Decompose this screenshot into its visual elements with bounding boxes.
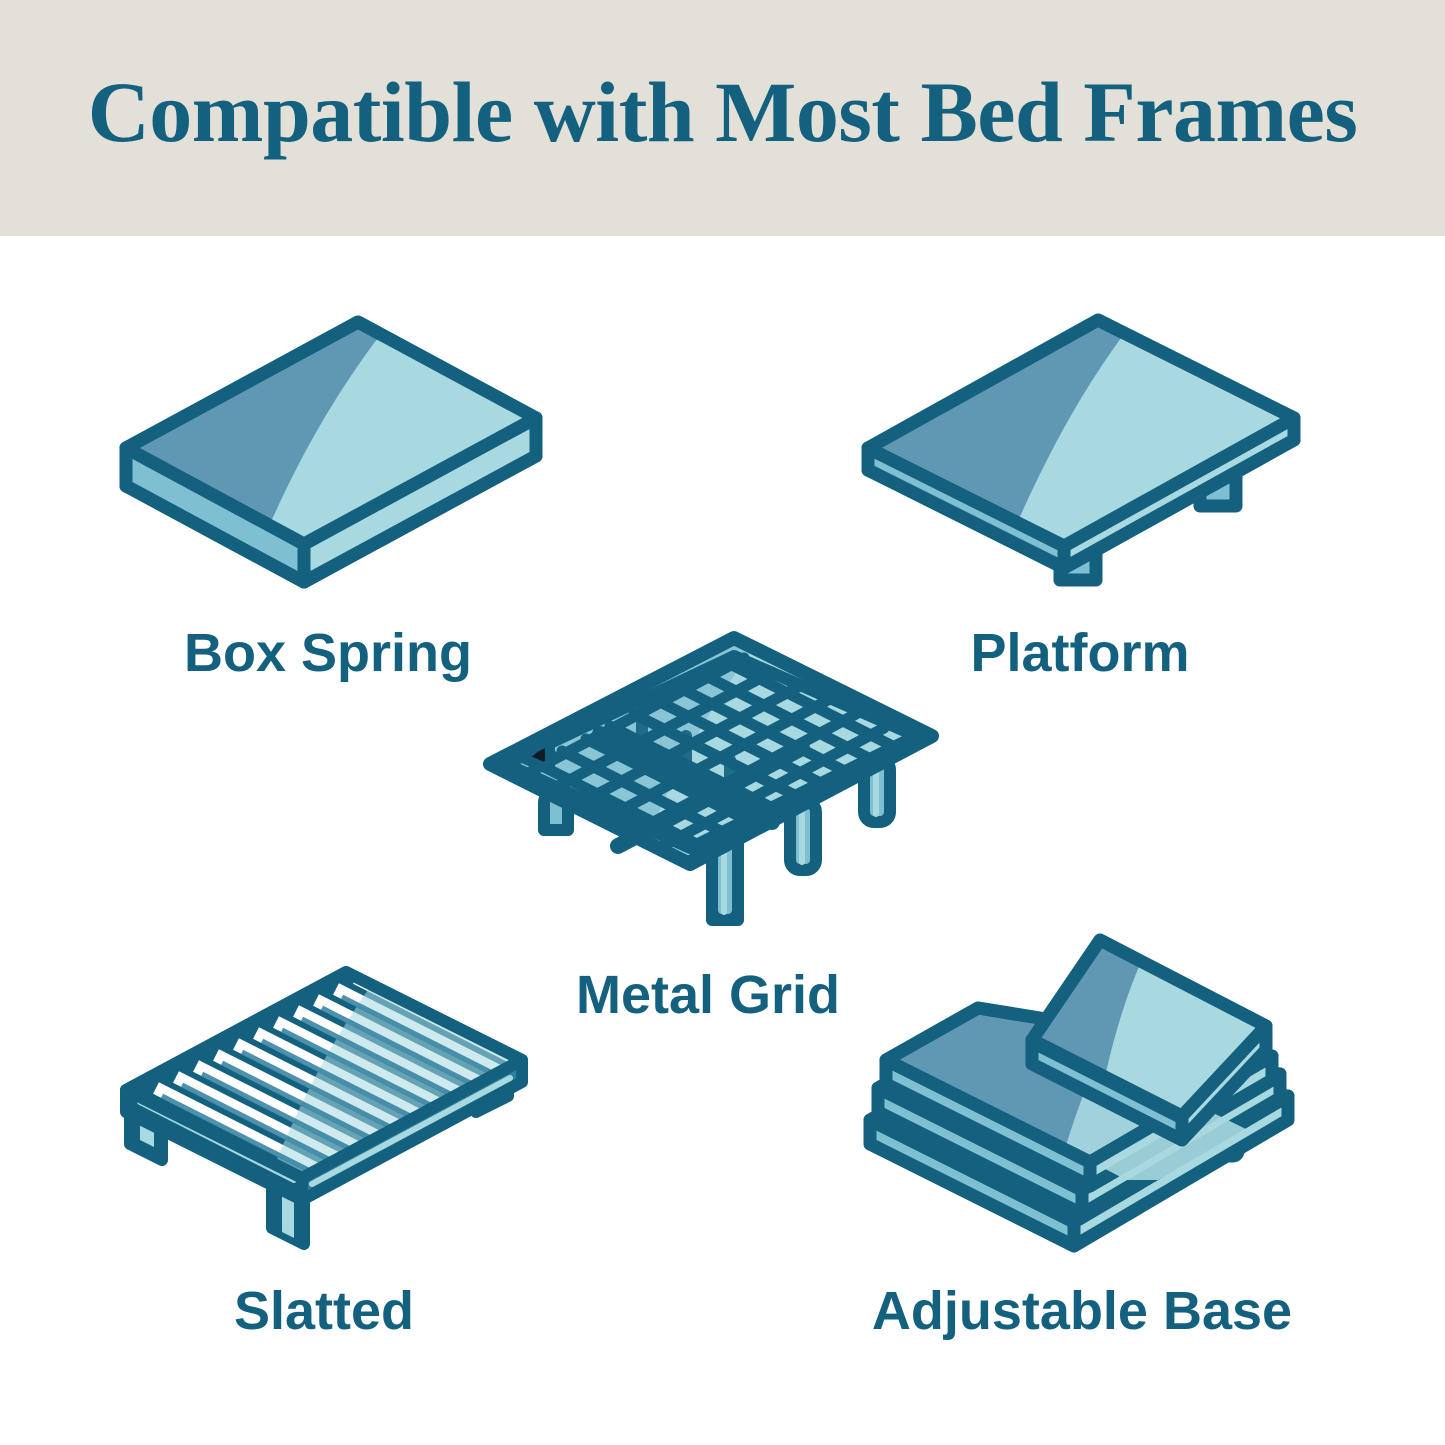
label-metal-grid: Metal Grid <box>576 968 840 1022</box>
label-adjustable-base: Adjustable Base <box>872 1284 1292 1338</box>
infographic-page: Compatible with Most Bed Frames <box>0 0 1445 1445</box>
metal-grid-icon <box>472 624 952 944</box>
label-box-spring: Box Spring <box>184 626 472 680</box>
illustration-slatted <box>104 960 544 1260</box>
illustration-platform <box>842 300 1332 600</box>
page-title: Compatible with Most Bed Frames <box>88 69 1358 155</box>
illustration-adjustable-base <box>852 920 1322 1260</box>
adjustable-base-icon <box>852 920 1322 1260</box>
label-slatted: Slatted <box>234 1284 414 1338</box>
illustration-metal-grid <box>472 624 952 944</box>
box-spring-icon <box>96 300 566 600</box>
platform-bed-icon <box>842 300 1332 600</box>
header-band: Compatible with Most Bed Frames <box>0 0 1445 236</box>
slatted-frame-icon <box>104 960 544 1260</box>
illustration-box-spring <box>96 300 566 600</box>
label-platform: Platform <box>970 626 1189 680</box>
